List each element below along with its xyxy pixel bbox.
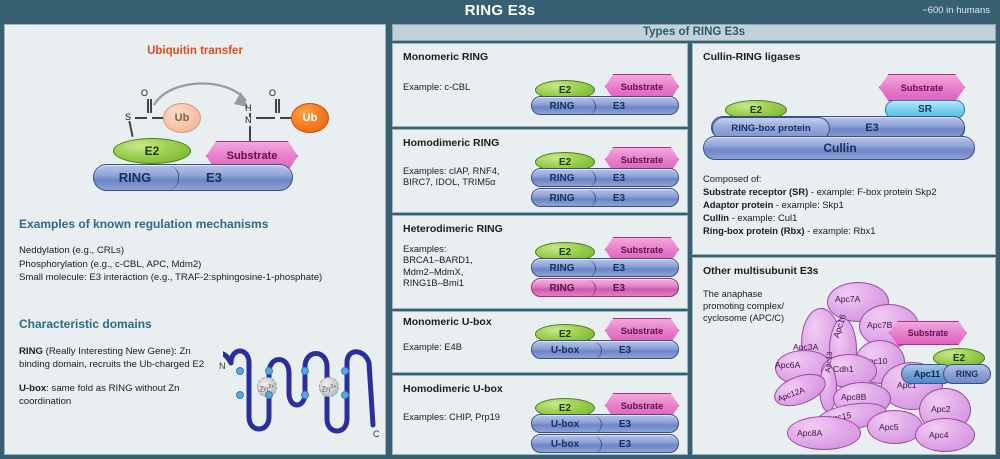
card-body: Examples: BRCA1–BARD1, Mdm2–MdmX, RING1B… <box>403 244 473 290</box>
apc-subunit-label: Apc5 <box>879 422 899 432</box>
card-body: Example: c-CBL <box>403 82 470 93</box>
domain-label: RING <box>532 259 592 278</box>
card-homodimeric-ring: Homodimeric RING Examples: cIAP, RNF4, B… <box>392 129 688 213</box>
domains-panel: Characteristic domains RING (Really Inte… <box>5 311 385 454</box>
atom-h: H <box>245 103 252 113</box>
e3-label: E3 <box>600 415 650 434</box>
card-body: Examples: CHIP, Prp19 <box>403 412 500 423</box>
bond-s-e2 <box>128 121 133 137</box>
e3-bar: RING E3 <box>531 96 679 115</box>
crl-composition-list: Composed of: Substrate receptor (SR) - e… <box>703 172 936 237</box>
ring-definition-text: (Really Interesting New Gene): Zn bindin… <box>19 346 204 370</box>
bond-n-c <box>256 117 275 119</box>
component-term: Ring-box protein (Rbx) <box>703 225 805 236</box>
crl-title: Cullin-RING ligases <box>703 51 800 63</box>
right-column: Cullin-RING ligases Substrate SR Adaptor… <box>692 24 996 455</box>
card-monomeric-ubox: Monomeric U-box Example: E4B E2 Substrat… <box>392 311 688 373</box>
crl-component-0: Substrate receptor (SR) - example: F-box… <box>703 185 936 198</box>
regulation-panel: Examples of known regulation mechanisms … <box>5 213 385 313</box>
ring-definition: RING (Really Interesting New Gene): Zn b… <box>19 345 224 371</box>
e3-label: E3 <box>594 169 644 188</box>
crl-component-1: Adaptor protein - example: Skp1 <box>703 198 936 211</box>
header-note: ~600 in humans <box>922 5 990 16</box>
cysteine-node-2 <box>236 391 244 399</box>
ub-donor: Ub <box>163 103 201 133</box>
bond-n-h <box>249 113 251 117</box>
page-title: RING E3s <box>0 2 1000 19</box>
e3-bar: RING E3 <box>93 164 293 191</box>
domain-label: U-box <box>532 415 598 434</box>
ub-acceptor: Ub <box>291 103 329 133</box>
figure-header: RING E3s ~600 in humans <box>0 0 1000 22</box>
e3-label: E3 <box>600 341 650 360</box>
apc-subunit-label: Apc8B <box>841 392 866 402</box>
domain-label: RING <box>532 169 592 188</box>
bond-s-c <box>135 117 147 119</box>
bond-c-o-acceptor <box>275 99 277 113</box>
ring-label: RING <box>94 165 176 192</box>
apc-subunit-label: Apc2 <box>931 404 951 414</box>
component-example: - example: Skp1 <box>773 199 843 210</box>
regulation-item-1: Phosphorylation (e.g., c-CBL, APC, Mdm2) <box>19 258 322 272</box>
domain-label: RING <box>532 279 592 298</box>
cullin-bar: Cullin <box>703 136 975 160</box>
ring-fold-diagram: N C Zn2+ Zn2+ <box>223 333 383 451</box>
card-title: Homodimeric U-box <box>403 383 503 395</box>
ubox-definition-term: U-box <box>19 383 46 394</box>
e3-bar-2: RING E3 <box>531 278 679 297</box>
card-title: Heterodimeric RING <box>403 223 503 235</box>
crl-component-2: Cullin - example: Cul1 <box>703 211 936 224</box>
component-term: Adaptor protein <box>703 199 773 210</box>
zinc-ion-2: Zn2+ <box>319 377 339 397</box>
crl-component-3: Ring-box protein (Rbx) - example: Rbx1 <box>703 224 936 237</box>
component-example: - example: F-box protein Skp2 <box>808 186 936 197</box>
component-example: - example: Rbx1 <box>805 225 876 236</box>
domain-label: U-box <box>532 341 598 360</box>
domains-text: RING (Really Interesting New Gene): Zn b… <box>19 345 224 408</box>
domain-label: U-box <box>532 435 598 454</box>
n-terminus-label: N <box>219 361 226 371</box>
card-body: Examples: cIAP, RNF4, BIRC7, IDOL, TRIM5… <box>403 166 499 189</box>
cullin-label: Cullin <box>704 137 976 161</box>
apc-subunit-label: Apc7A <box>835 294 860 304</box>
domain-label: RING <box>532 189 592 208</box>
e3-label: E3 <box>179 165 249 192</box>
regulation-heading: Examples of known regulation mechanisms <box>19 217 268 231</box>
atom-o-acceptor: O <box>269 88 276 98</box>
apc-subunit-label: Apc7B <box>867 320 892 330</box>
ring-pill: RING <box>943 364 991 384</box>
left-column: Ubiquitin transfer O S Ub E2 O H N <box>4 24 386 455</box>
component-term: Substrate receptor (SR) <box>703 186 808 197</box>
substrate-hexagon: Substrate <box>889 321 967 345</box>
c-terminus-label: C <box>373 429 380 439</box>
e3-bar: U-box E3 <box>531 414 679 433</box>
cysteine-node-4 <box>265 391 273 399</box>
card-title: Homodimeric RING <box>403 137 499 149</box>
zn-charge-2: 2+ <box>330 384 336 390</box>
e3-label: E3 <box>594 189 644 208</box>
middle-column: Monomeric RING Example: c-CBL E2 Substra… <box>392 24 688 455</box>
composed-of-label: Composed of: <box>703 172 936 185</box>
card-other-multisubunit-e3s: Other multisubunit E3s The anaphase prom… <box>692 257 996 455</box>
card-title: Monomeric U-box <box>403 316 492 328</box>
card-monomeric-ring: Monomeric RING Example: c-CBL E2 Substra… <box>392 43 688 127</box>
e3-bar: RING E3 <box>531 168 679 187</box>
domains-heading: Characteristic domains <box>19 317 152 331</box>
cysteine-node-5 <box>301 367 309 375</box>
regulation-list: Neddylation (e.g., CRLs) Phosphorylation… <box>19 244 322 285</box>
figure-root: RING E3s ~600 in humans Types of RING E3… <box>0 0 1000 459</box>
apc-subunit-label: Apc4 <box>929 430 949 440</box>
card-cullin-ring-ligases: Cullin-RING ligases Substrate SR Adaptor… <box>692 43 996 255</box>
component-term: Cullin <box>703 212 729 223</box>
card-title: Monomeric RING <box>403 51 488 63</box>
bond-n-substrate <box>249 126 251 142</box>
ring-definition-term: RING <box>19 346 43 357</box>
e3-bar: U-box E3 <box>531 340 679 359</box>
cysteine-node-3 <box>265 367 273 375</box>
zn-label-2: Zn <box>321 385 330 394</box>
card-body: Example: E4B <box>403 342 462 353</box>
substrate-hexagon: Substrate <box>879 74 965 101</box>
ubiquitin-transfer-panel: Ubiquitin transfer O S Ub E2 O H N <box>5 25 385 207</box>
e3-bar-2: RING E3 <box>531 188 679 207</box>
e3-label: E3 <box>594 259 644 278</box>
cysteine-node-7 <box>341 367 349 375</box>
domain-label: RING <box>532 97 592 116</box>
ubox-definition: U-box: same fold as RING without Zn coor… <box>19 382 224 408</box>
cysteine-node-6 <box>301 391 309 399</box>
e2-oval: E2 <box>113 138 191 164</box>
cysteine-node-8 <box>341 391 349 399</box>
bond-c-o-donor-2 <box>150 99 152 113</box>
bond-c-o-donor <box>147 99 149 113</box>
zn-charge-1: 2+ <box>268 384 274 390</box>
e3-label: E3 <box>594 97 644 116</box>
e3-label: E3 <box>600 435 650 454</box>
atom-o-donor: O <box>141 88 148 98</box>
regulation-item-0: Neddylation (e.g., CRLs) <box>19 244 322 258</box>
e3-bar-2: U-box E3 <box>531 434 679 453</box>
apc-subunit-label: Apc6A <box>775 360 800 370</box>
e3-label: E3 <box>594 279 644 298</box>
apc-subunit-label: Cdh1 <box>833 364 854 374</box>
bond-c-o-acceptor-2 <box>278 99 280 113</box>
apc-subunit-label: Apc8A <box>797 428 822 438</box>
regulation-item-2: Small molecule: E3 interaction (e.g., TR… <box>19 271 322 285</box>
ubiquitin-transfer-title: Ubiquitin transfer <box>5 45 385 57</box>
card-homodimeric-ubox: Homodimeric U-box Examples: CHIP, Prp19 … <box>392 375 688 455</box>
component-example: - example: Cul1 <box>729 212 797 223</box>
card-heterodimeric-ring: Heterodimeric RING Examples: BRCA1–BARD1… <box>392 215 688 309</box>
cysteine-node-1 <box>236 367 244 375</box>
apc-title: Other multisubunit E3s <box>703 265 819 277</box>
e3-bar: RING E3 <box>531 258 679 277</box>
